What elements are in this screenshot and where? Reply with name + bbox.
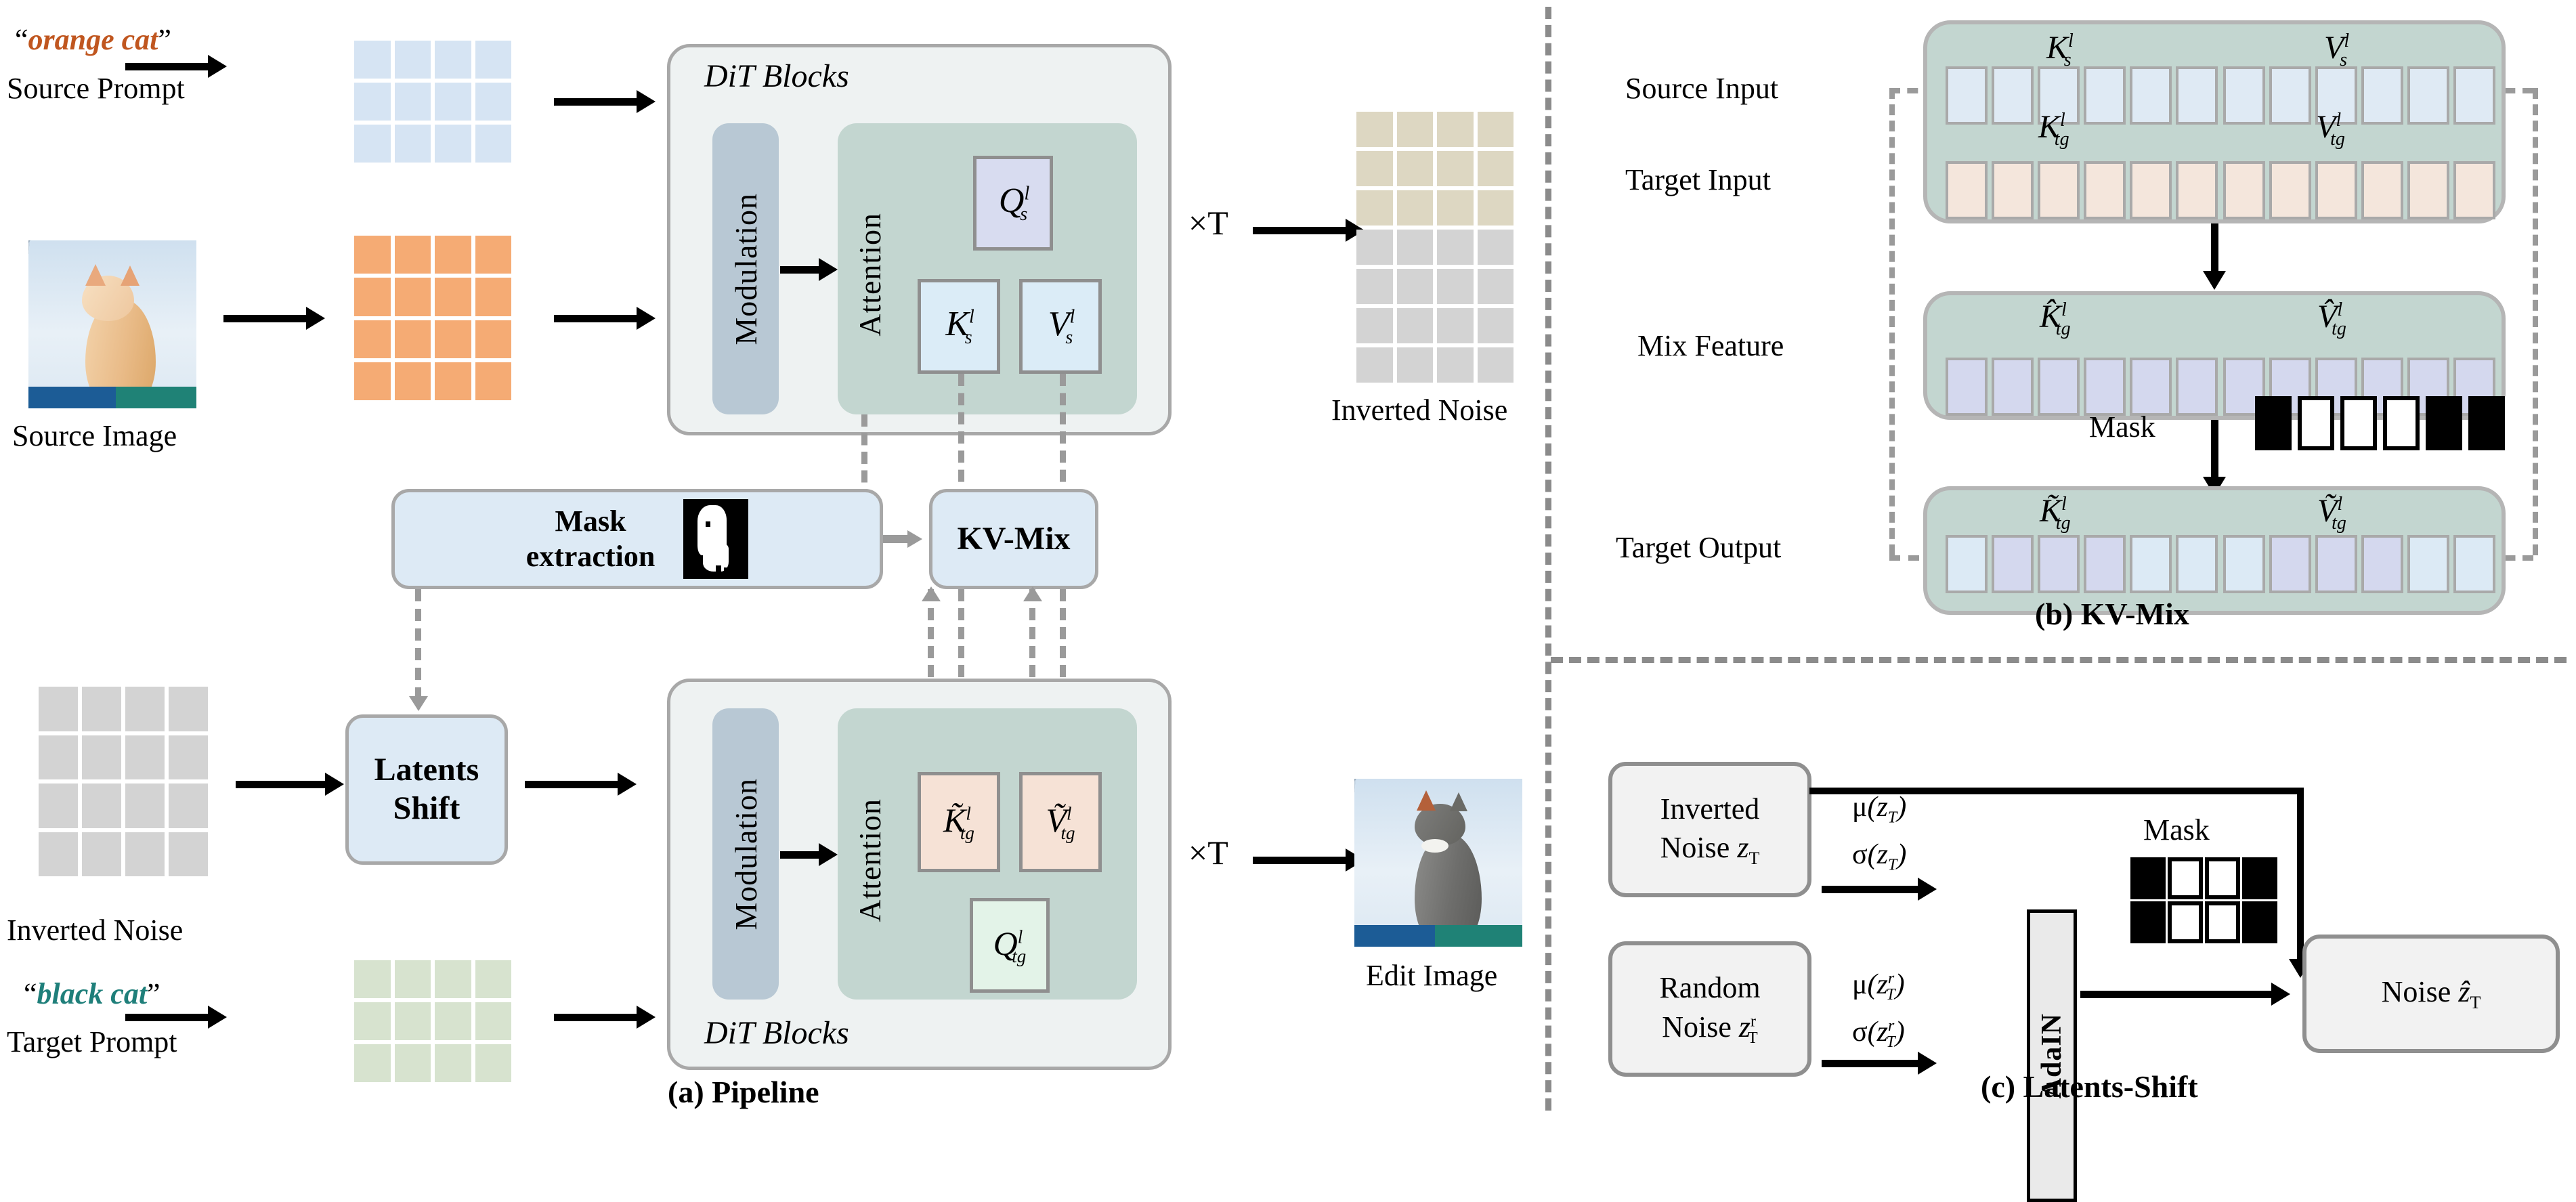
latent-patch xyxy=(395,236,431,274)
latents-sigma-ztr-fn: σ xyxy=(1852,1016,1868,1048)
latent-patch xyxy=(435,960,471,998)
source-prompt-label: Source Prompt xyxy=(7,71,185,106)
kvmix-v-target-symbol: Vltg xyxy=(2316,108,2345,150)
latent-patch xyxy=(475,83,512,121)
latent-patch xyxy=(395,41,431,79)
latent-patch xyxy=(1397,112,1434,147)
mask-cell xyxy=(2298,396,2334,450)
latent-patch xyxy=(1397,230,1434,265)
q-target-box: Qltg xyxy=(970,898,1050,993)
latent-patch xyxy=(1478,230,1514,265)
kvmix-token-cell xyxy=(2176,358,2218,416)
latent-patch xyxy=(395,125,431,163)
kvmix-token-cell xyxy=(2038,535,2080,593)
kvmix-token-cell xyxy=(2269,66,2311,125)
latents-output-label: Noise ẑT xyxy=(2382,974,2481,1013)
kvmix-vhat-sub: tg xyxy=(2332,318,2346,339)
source-image xyxy=(28,240,196,408)
target-close-quote: ” xyxy=(147,977,160,1010)
latent-patch xyxy=(1437,308,1474,343)
latent-patch xyxy=(125,687,165,731)
source-prompt-text: “orange cat” xyxy=(15,22,171,57)
latent-patch xyxy=(125,735,165,780)
attention-top-label: Attention xyxy=(852,173,888,376)
latent-patch xyxy=(169,687,208,731)
latent-patch xyxy=(1437,112,1474,147)
mask-extraction-line1: Mask xyxy=(555,504,626,539)
mask-cell xyxy=(2468,396,2505,450)
panel-b-caption: (b) KV-Mix xyxy=(2035,596,2189,632)
latents-inverted-line1: Inverted xyxy=(1660,790,1760,828)
target-prompt-token-grid xyxy=(354,960,511,1082)
kvmix-v-target-sup: l xyxy=(2336,110,2341,131)
q-source-box: Qls xyxy=(973,156,1053,251)
kvmix-label-mix-feature: Mix Feature xyxy=(1637,328,1784,363)
kvmix-ktilde-symbol: K̃ltg xyxy=(2040,492,2071,534)
modulation-top-label: Modulation xyxy=(728,193,764,345)
latent-patch xyxy=(354,125,391,163)
latent-patch xyxy=(39,687,78,731)
dit-blocks-top-title: DiT Blocks xyxy=(704,58,849,95)
kvmix-token-cell xyxy=(2315,161,2357,219)
attention-top-label-text: Attention xyxy=(852,213,888,337)
kvmix-khat-cells xyxy=(1946,358,2218,416)
latent-patch xyxy=(1356,347,1393,383)
latents-output-noise-box: Noise ẑT xyxy=(2302,935,2560,1053)
latent-patch xyxy=(1356,269,1393,304)
latent-patch xyxy=(395,1002,431,1040)
v-target-sub: tg xyxy=(1061,823,1075,843)
latents-sigma-ztr-sup: r xyxy=(1888,1017,1894,1035)
mask-cell xyxy=(2383,396,2420,450)
latent-patch xyxy=(1437,269,1474,304)
latent-patch xyxy=(435,41,471,79)
kvmix-feedback-right xyxy=(2533,88,2538,555)
latent-patch xyxy=(395,83,431,121)
k-target-tilde-box: K̃ltg xyxy=(918,772,1000,872)
latent-patch xyxy=(1397,347,1434,383)
latent-patch xyxy=(395,320,431,358)
kvmix-token-cell xyxy=(2223,161,2265,219)
kvmix-token-cell xyxy=(2361,535,2403,593)
q-source-sub: s xyxy=(1020,204,1027,225)
kvmix-khat-symbol: K̂ltg xyxy=(2040,298,2071,340)
latent-patch xyxy=(435,1002,471,1040)
latents-inverted-line2: Noise zT xyxy=(1660,828,1760,870)
latent-patch xyxy=(354,1044,391,1082)
kvmix-khat-sup: l xyxy=(2061,299,2067,320)
kvmix-token-cell xyxy=(2407,66,2449,125)
latent-patch xyxy=(475,1002,512,1040)
latent-patch xyxy=(125,832,165,877)
latent-patch xyxy=(435,278,471,316)
latent-patch xyxy=(1478,190,1514,226)
kvmix-token-cell xyxy=(1992,66,2034,125)
latent-patch xyxy=(1397,308,1434,343)
v-source-sub: s xyxy=(1065,327,1073,348)
latents-inverted-line2-prefix: Noise xyxy=(1660,831,1738,864)
latent-patch xyxy=(475,278,512,316)
kvmix-token-cell xyxy=(2361,161,2403,219)
target-prompt-label: Target Prompt xyxy=(7,1025,177,1059)
kvmix-token-cell xyxy=(2084,535,2126,593)
inverted-noise-output-label: Inverted Noise xyxy=(1331,393,1507,427)
kvmix-k-target-cells xyxy=(1946,161,2218,219)
kvmix-vhat-sup: l xyxy=(2337,299,2342,320)
kvmix-token-cell xyxy=(2084,66,2126,125)
latents-inverted-noise-box: Inverted Noise zT xyxy=(1608,762,1811,897)
latents-sigma-ztr: σ(zrT) xyxy=(1852,1016,1905,1052)
q-target-sub: tg xyxy=(1012,946,1026,966)
q-source-sup: l xyxy=(1024,184,1029,205)
kvmix-k-target-symbol: Kltg xyxy=(2038,108,2069,150)
latents-random-line2-sub: T xyxy=(1748,1029,1758,1047)
latent-patch xyxy=(395,1044,431,1082)
latents-inverted-line2-sub: T xyxy=(1748,849,1759,868)
kvmix-k-source-cells xyxy=(1946,66,2218,125)
latent-patch xyxy=(395,362,431,400)
kvmix-token-cell xyxy=(2223,66,2265,125)
kvmix-token-cell xyxy=(1992,358,2034,416)
mask-thumbnail xyxy=(683,499,748,579)
latents-inverted-line2-math: z xyxy=(1737,831,1748,864)
kvmix-token-cell xyxy=(2084,161,2126,219)
latent-patch xyxy=(475,1044,512,1082)
kv-mix-box[interactable]: KV-Mix xyxy=(929,489,1098,589)
latent-patch xyxy=(475,320,512,358)
latent-patch xyxy=(475,125,512,163)
kvmix-k-target-sub: tg xyxy=(2055,129,2069,150)
latent-patch xyxy=(354,960,391,998)
kvmix-token-cell xyxy=(2407,161,2449,219)
repeat-t-top: ×T xyxy=(1188,203,1228,242)
latents-sigma-ztr-sub: T xyxy=(1886,1033,1895,1051)
dash-arrowhead-up-v xyxy=(1023,586,1042,601)
kvmix-vhat-symbol: V̂ltg xyxy=(2317,298,2346,340)
v-target-tilde-box: Ṽltg xyxy=(1019,772,1102,872)
mask-cell xyxy=(2340,396,2377,450)
kvmix-token-cell xyxy=(2361,66,2403,125)
kvmix-v-source-sup: l xyxy=(2344,30,2349,51)
latent-patch xyxy=(1356,151,1393,186)
latents-output-sub: T xyxy=(2470,993,2481,1012)
kvmix-ktilde-sup: l xyxy=(2061,494,2067,515)
latent-patch xyxy=(435,125,471,163)
latent-patch xyxy=(475,362,512,400)
kvmix-label-target-output: Target Output xyxy=(1616,530,1781,565)
kvmix-mask-label: Mask xyxy=(2089,410,2155,444)
arrow-maskextraction-to-kvmix xyxy=(883,530,926,548)
latent-patch xyxy=(435,320,471,358)
mask-cell xyxy=(2255,396,2292,450)
latent-patch xyxy=(169,784,208,828)
kvmix-token-cell xyxy=(1992,535,2034,593)
kvmix-token-cell xyxy=(2453,66,2495,125)
kvmix-v-target-cells xyxy=(2223,161,2495,219)
latent-patch xyxy=(1478,269,1514,304)
kvmix-label-source-input: Source Input xyxy=(1625,71,1778,106)
mask-extraction-box[interactable]: Mask extraction xyxy=(391,489,883,589)
kvmix-token-cell xyxy=(1946,66,1988,125)
latents-random-line2-sup: r xyxy=(1751,1012,1756,1030)
repeat-t-bottom: ×T xyxy=(1188,833,1228,872)
latent-patch xyxy=(1397,190,1434,226)
k-source-box: Kls xyxy=(918,279,1000,374)
kvmix-token-cell xyxy=(2130,358,2172,416)
dash-arrowhead-latentsshift xyxy=(409,696,428,711)
latent-patch xyxy=(39,832,78,877)
latent-patch xyxy=(82,832,121,877)
k-target-sub: tg xyxy=(960,823,974,843)
kvmix-k-source-symbol: Kls xyxy=(2046,29,2071,71)
latent-patch xyxy=(82,687,121,731)
source-prompt-word: orange cat xyxy=(28,23,158,56)
kvmix-vtilde-sup: l xyxy=(2337,494,2342,515)
kvmix-ktilde-cells xyxy=(1946,535,2218,593)
latent-patch xyxy=(435,362,471,400)
latent-patch xyxy=(354,1002,391,1040)
mask-cell xyxy=(2426,396,2462,450)
source-image-label: Source Image xyxy=(12,418,177,453)
latent-patch xyxy=(1437,151,1474,186)
latent-patch xyxy=(354,278,391,316)
latent-patch xyxy=(1437,190,1474,226)
kvmix-token-cell xyxy=(1992,161,2034,219)
latent-patch xyxy=(82,784,121,828)
latent-patch xyxy=(435,236,471,274)
modulation-bottom-label: Modulation xyxy=(728,778,764,930)
latents-random-line2: Noise zrT xyxy=(1662,1008,1757,1050)
latent-patch xyxy=(1437,347,1474,383)
attention-bottom-label: Attention xyxy=(852,758,888,962)
open-quote: “ xyxy=(15,23,28,56)
target-prompt-word: black cat xyxy=(37,977,148,1010)
latent-patch xyxy=(354,320,391,358)
latent-patch xyxy=(435,1044,471,1082)
latent-patch xyxy=(1437,230,1474,265)
latent-patch xyxy=(1356,308,1393,343)
q-target-sup: l xyxy=(1018,926,1023,947)
latent-patch xyxy=(1397,151,1434,186)
kvmix-v-source-cells xyxy=(2223,66,2495,125)
kvmix-token-cell xyxy=(2453,161,2495,219)
kvmix-token-cell xyxy=(2315,535,2357,593)
kvmix-token-cell xyxy=(2038,161,2080,219)
inverted-noise-input-label: Inverted Noise xyxy=(7,913,183,947)
latent-patch xyxy=(1397,269,1434,304)
kvmix-token-cell xyxy=(2269,161,2311,219)
latent-patch xyxy=(1478,112,1514,147)
latents-shift-box[interactable]: Latents Shift xyxy=(345,714,508,865)
kvmix-feedback-left xyxy=(1889,88,1895,555)
latent-patch xyxy=(1356,230,1393,265)
kvmix-ktilde-sub: tg xyxy=(2056,513,2071,534)
attention-bottom-label-text: Attention xyxy=(852,798,888,922)
latents-random-line1: Random xyxy=(1659,968,1760,1007)
kvmix-token-cell xyxy=(2130,161,2172,219)
latent-patch xyxy=(1478,308,1514,343)
kvmix-token-cell xyxy=(2269,535,2311,593)
kvmix-v-source-symbol: Vls xyxy=(2324,29,2347,71)
skip-connection-inverted-to-output xyxy=(1809,788,2323,984)
v-source-box: Vls xyxy=(1019,279,1102,374)
v-target-sup: l xyxy=(1067,803,1072,823)
kv-mix-label: KV-Mix xyxy=(957,520,1070,559)
latent-patch xyxy=(354,236,391,274)
dash-k-source-to-kvmix xyxy=(958,374,964,501)
panel-divider-horizontal xyxy=(1551,657,2567,663)
panel-divider-vertical xyxy=(1545,7,1551,1111)
latents-random-noise-box: Random Noise zrT xyxy=(1608,941,1811,1077)
latent-patch xyxy=(125,784,165,828)
latent-patch xyxy=(435,83,471,121)
inverted-noise-output-grid xyxy=(1356,112,1514,383)
dash-attn-to-maskextraction xyxy=(861,414,867,501)
latent-patch xyxy=(1478,347,1514,383)
latent-patch xyxy=(475,960,512,998)
kvmix-token-cell xyxy=(2453,535,2495,593)
kvmix-token-cell xyxy=(2084,358,2126,416)
kvmix-v-target-sub: tg xyxy=(2330,129,2345,150)
latents-output-math: ẑ xyxy=(2458,975,2470,1008)
latents-random-line2-prefix: Noise xyxy=(1662,1010,1739,1044)
kvmix-token-cell xyxy=(1946,535,1988,593)
dit-blocks-bottom-title: DiT Blocks xyxy=(704,1014,849,1052)
k-target-sup: l xyxy=(966,803,971,823)
inverted-noise-input-grid xyxy=(39,687,208,876)
latent-patch xyxy=(1356,190,1393,226)
k-source-sup: l xyxy=(969,307,974,328)
kvmix-token-cell xyxy=(2407,535,2449,593)
kvmix-token-cell xyxy=(2038,358,2080,416)
latents-output-prefix: Noise xyxy=(2382,975,2459,1008)
panel-a-caption: (a) Pipeline xyxy=(668,1074,819,1110)
latent-patch xyxy=(82,735,121,780)
kvmix-label-target-input: Target Input xyxy=(1625,163,1771,197)
kvmix-token-cell xyxy=(1946,358,1988,416)
kvmix-k-target-sup: l xyxy=(2060,110,2065,131)
modulation-bottom: Modulation xyxy=(712,708,779,1000)
dash-maskextraction-to-latentsshift xyxy=(415,589,421,700)
modulation-top: Modulation xyxy=(712,123,779,414)
v-source-sup: l xyxy=(1070,307,1075,328)
mask-extraction-line2: extraction xyxy=(526,539,656,574)
kvmix-token-cell xyxy=(2130,66,2172,125)
edit-image xyxy=(1354,779,1522,947)
kvmix-vtilde-symbol: Ṽltg xyxy=(2317,492,2346,534)
latent-patch xyxy=(354,83,391,121)
kvmix-vtilde-sub: tg xyxy=(2332,513,2346,534)
source-prompt-token-grid xyxy=(354,41,511,163)
kvmix-mask-row xyxy=(2255,396,2505,450)
kvmix-token-cell xyxy=(2176,161,2218,219)
kvmix-token-cell xyxy=(2176,66,2218,125)
latent-patch xyxy=(395,278,431,316)
k-source-sub: s xyxy=(965,327,972,348)
latent-patch xyxy=(39,735,78,780)
latent-patch xyxy=(475,236,512,274)
latent-patch xyxy=(354,362,391,400)
latents-mu-ztr-sub: T xyxy=(1886,986,1895,1004)
panel-c-caption: (c) Latents-Shift xyxy=(1981,1069,2198,1104)
target-prompt-text: “black cat” xyxy=(24,976,160,1011)
kvmix-vtilde-cells xyxy=(2223,535,2495,593)
latent-patch xyxy=(395,960,431,998)
latents-shift-line1: Latents xyxy=(374,751,479,790)
latent-patch xyxy=(169,735,208,780)
dash-v-source-to-kvmix xyxy=(1060,374,1066,501)
latent-patch xyxy=(1356,112,1393,147)
latents-shift-line2: Shift xyxy=(393,790,460,828)
kvmix-token-cell xyxy=(1946,161,1988,219)
latent-patch xyxy=(39,784,78,828)
kvmix-token-cell xyxy=(2223,535,2265,593)
target-open-quote: “ xyxy=(24,977,37,1010)
latent-patch xyxy=(475,41,512,79)
kvmix-khat-sub: tg xyxy=(2056,318,2071,339)
source-image-token-grid xyxy=(354,236,511,400)
latent-patch xyxy=(169,832,208,877)
edit-image-label: Edit Image xyxy=(1366,958,1497,993)
kvmix-token-cell xyxy=(2130,535,2172,593)
kvmix-k-source-sup: l xyxy=(2068,30,2074,51)
kvmix-token-cell xyxy=(2176,535,2218,593)
latent-patch xyxy=(1478,151,1514,186)
dash-arrowhead-up-k xyxy=(922,586,941,601)
close-quote: ” xyxy=(158,23,171,56)
latent-patch xyxy=(354,41,391,79)
